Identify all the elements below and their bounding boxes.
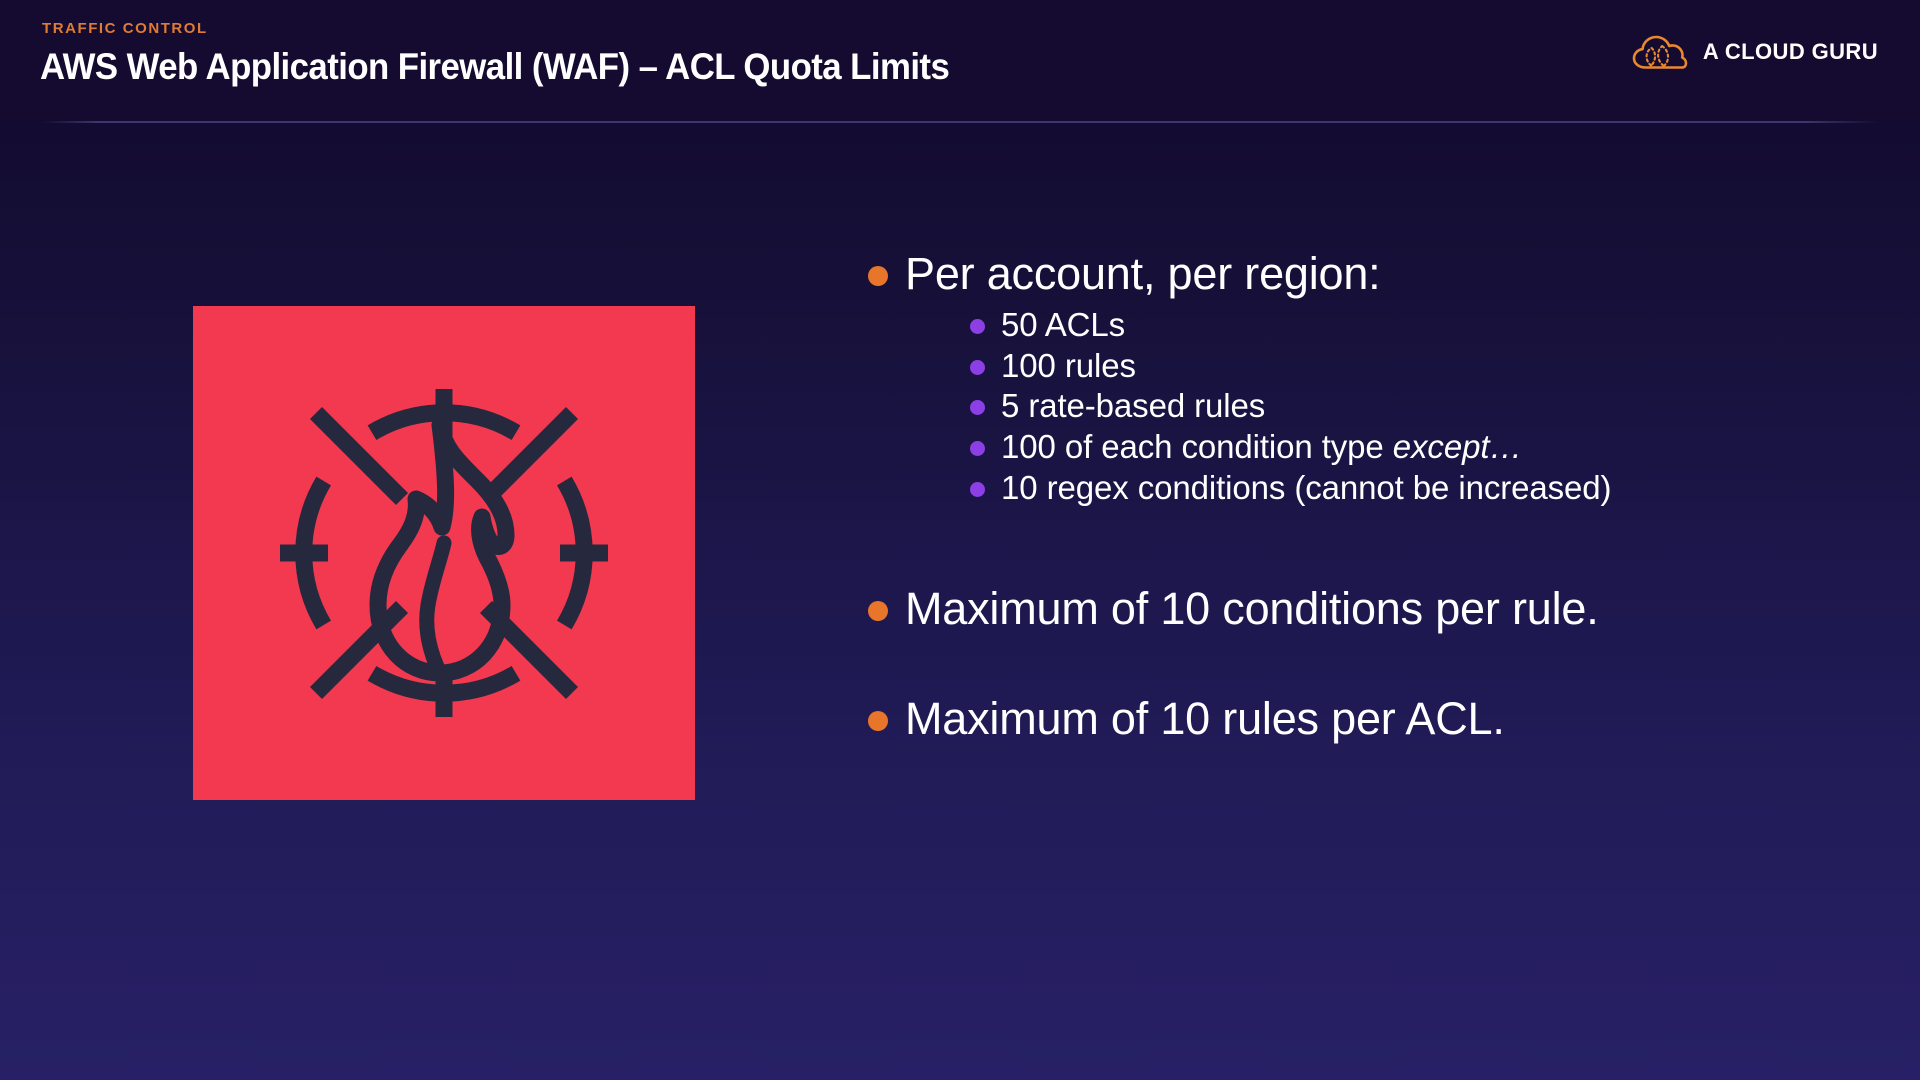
- bullet-text: Maximum of 10 conditions per rule.: [905, 583, 1599, 635]
- sub-bullet-dot-icon: [970, 400, 985, 415]
- brand-name: A CLOUD GURU: [1703, 39, 1878, 65]
- sub-bullet-dot-icon: [970, 482, 985, 497]
- cloud-icon: [1631, 32, 1689, 72]
- brand-logo: A CLOUD GURU: [1631, 32, 1878, 72]
- bullet-dot-icon: [868, 266, 888, 286]
- spacer: [868, 509, 1878, 583]
- sub-bullet-dot-icon: [970, 441, 985, 456]
- firewall-target-flame-icon: [193, 306, 695, 800]
- sub-bullet-item: 100 rules: [970, 347, 1878, 385]
- sub-bullet-text: 100 rules: [1001, 347, 1136, 385]
- section-eyebrow: TRAFFIC CONTROL: [42, 20, 208, 37]
- slide-root: TRAFFIC CONTROL AWS Web Application Fire…: [0, 0, 1920, 1080]
- sub-bullet-item: 50 ACLs: [970, 306, 1878, 344]
- sub-bullet-text: 50 ACLs: [1001, 306, 1125, 344]
- sub-bullet-text-emphasis: except…: [1393, 428, 1523, 465]
- page-title: AWS Web Application Firewall (WAF) – ACL…: [40, 46, 949, 88]
- bullet-text: Maximum of 10 rules per ACL.: [905, 693, 1505, 745]
- bullet-item: Maximum of 10 conditions per rule.: [868, 583, 1878, 635]
- spacer: [868, 635, 1878, 693]
- sub-bullet-item: 5 rate-based rules: [970, 387, 1878, 425]
- sub-bullet-text: 5 rate-based rules: [1001, 387, 1265, 425]
- sub-bullet-list: 50 ACLs 100 rules 5 rate-based rules 100…: [970, 306, 1878, 506]
- bullet-item: Per account, per region:: [868, 248, 1878, 300]
- sub-bullet-item: 100 of each condition type except…: [970, 428, 1878, 466]
- bullet-dot-icon: [868, 601, 888, 621]
- sub-bullet-text: 10 regex conditions (cannot be increased…: [1001, 469, 1611, 507]
- sub-bullet-dot-icon: [970, 319, 985, 334]
- bullet-dot-icon: [868, 711, 888, 731]
- bullet-text: Per account, per region:: [905, 248, 1380, 300]
- bullet-content: Per account, per region: 50 ACLs 100 rul…: [868, 248, 1878, 746]
- bullet-item: Maximum of 10 rules per ACL.: [868, 693, 1878, 745]
- sub-bullet-item: 10 regex conditions (cannot be increased…: [970, 469, 1878, 507]
- header-divider: [42, 121, 1880, 123]
- sub-bullet-dot-icon: [970, 360, 985, 375]
- sub-bullet-text-mixed: 100 of each condition type except…: [1001, 428, 1522, 466]
- sub-bullet-text-plain: 100 of each condition type: [1001, 428, 1393, 465]
